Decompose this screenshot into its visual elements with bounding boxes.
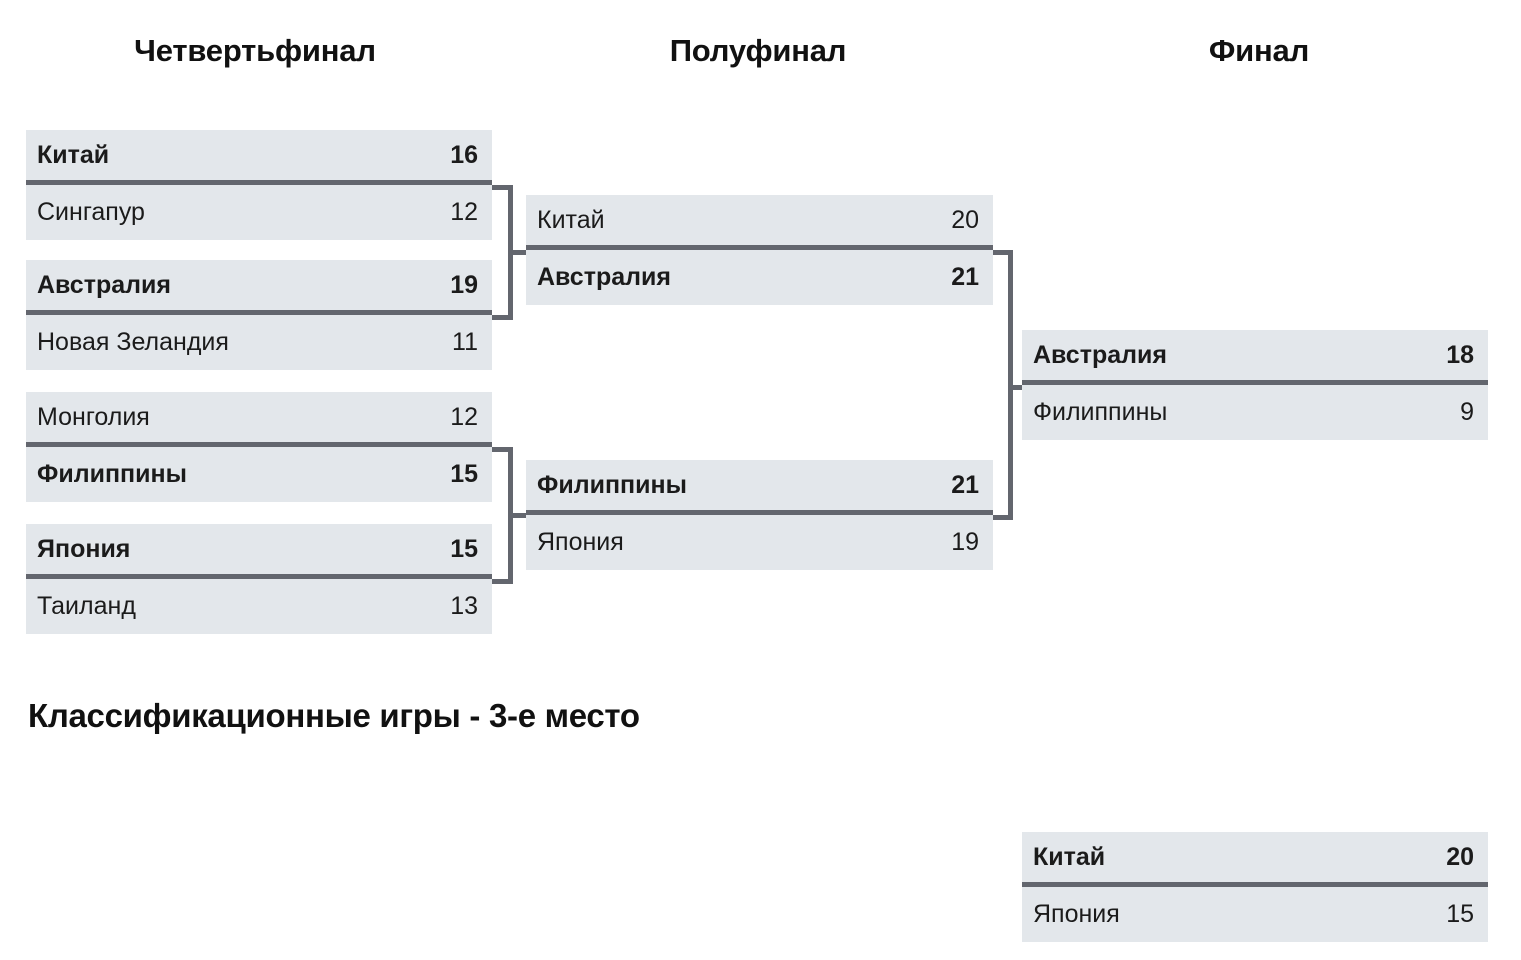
team-row[interactable]: Китай 20 — [1022, 832, 1488, 887]
team-name: Китай — [1033, 843, 1105, 872]
team-name: Филиппины — [37, 460, 187, 489]
team-row[interactable]: Китай 16 — [26, 130, 492, 185]
team-name: Китай — [37, 141, 109, 170]
team-score: 16 — [450, 141, 478, 170]
match-sf2: Филиппины 21 Япония 19 — [526, 460, 993, 570]
team-score: 12 — [450, 403, 478, 432]
team-score: 19 — [951, 528, 979, 557]
team-name: Таиланд — [37, 592, 136, 621]
round-heading-quarterfinal: Четвертьфинал — [134, 33, 376, 69]
round-heading-final: Финал — [1209, 33, 1309, 69]
team-name: Австралия — [1033, 341, 1167, 370]
team-row[interactable]: Таиланд 13 — [26, 579, 492, 634]
team-score: 15 — [1446, 900, 1474, 929]
team-name: Сингапур — [37, 198, 145, 227]
team-name: Япония — [37, 535, 130, 564]
team-name: Филиппины — [1033, 398, 1167, 427]
team-name: Филиппины — [537, 471, 687, 500]
team-row[interactable]: Монголия 12 — [26, 392, 492, 447]
match-final: Австралия 18 Филиппины 9 — [1022, 330, 1488, 440]
team-name: Япония — [1033, 900, 1120, 929]
match-qf1: Китай 16 Сингапур 12 — [26, 130, 492, 240]
team-score: 11 — [452, 328, 478, 357]
team-row[interactable]: Япония 15 — [1022, 887, 1488, 942]
team-score: 13 — [450, 592, 478, 621]
team-row[interactable]: Новая Зеландия 11 — [26, 315, 492, 370]
team-score: 20 — [1446, 843, 1474, 872]
team-row[interactable]: Китай 20 — [526, 195, 993, 250]
team-row[interactable]: Австралия 18 — [1022, 330, 1488, 385]
team-name: Монголия — [37, 403, 150, 432]
match-qf3: Монголия 12 Филиппины 15 — [26, 392, 492, 502]
team-score: 18 — [1446, 341, 1474, 370]
team-row[interactable]: Япония 19 — [526, 515, 993, 570]
team-name: Япония — [537, 528, 624, 557]
match-qf4: Япония 15 Таиланд 13 — [26, 524, 492, 634]
team-score: 19 — [450, 271, 478, 300]
match-qf2: Австралия 19 Новая Зеландия 11 — [26, 260, 492, 370]
team-row[interactable]: Австралия 21 — [526, 250, 993, 305]
team-row[interactable]: Филиппины 15 — [26, 447, 492, 502]
round-heading-semifinal: Полуфинал — [670, 33, 847, 69]
team-name: Китай — [537, 206, 605, 235]
section-title-third-place: Классификационные игры - 3-е место — [28, 697, 640, 735]
team-score: 15 — [450, 535, 478, 564]
team-score: 20 — [951, 206, 979, 235]
team-score: 15 — [450, 460, 478, 489]
team-score: 9 — [1460, 398, 1474, 427]
team-score: 12 — [450, 198, 478, 227]
team-row[interactable]: Филиппины 21 — [526, 460, 993, 515]
team-name: Австралия — [37, 271, 171, 300]
match-sf1: Китай 20 Австралия 21 — [526, 195, 993, 305]
team-row[interactable]: Филиппины 9 — [1022, 385, 1488, 440]
team-row[interactable]: Япония 15 — [26, 524, 492, 579]
team-score: 21 — [951, 471, 979, 500]
team-name: Австралия — [537, 263, 671, 292]
team-row[interactable]: Сингапур 12 — [26, 185, 492, 240]
team-score: 21 — [951, 263, 979, 292]
match-third-place: Китай 20 Япония 15 — [1022, 832, 1488, 942]
team-name: Новая Зеландия — [37, 328, 229, 357]
team-row[interactable]: Австралия 19 — [26, 260, 492, 315]
